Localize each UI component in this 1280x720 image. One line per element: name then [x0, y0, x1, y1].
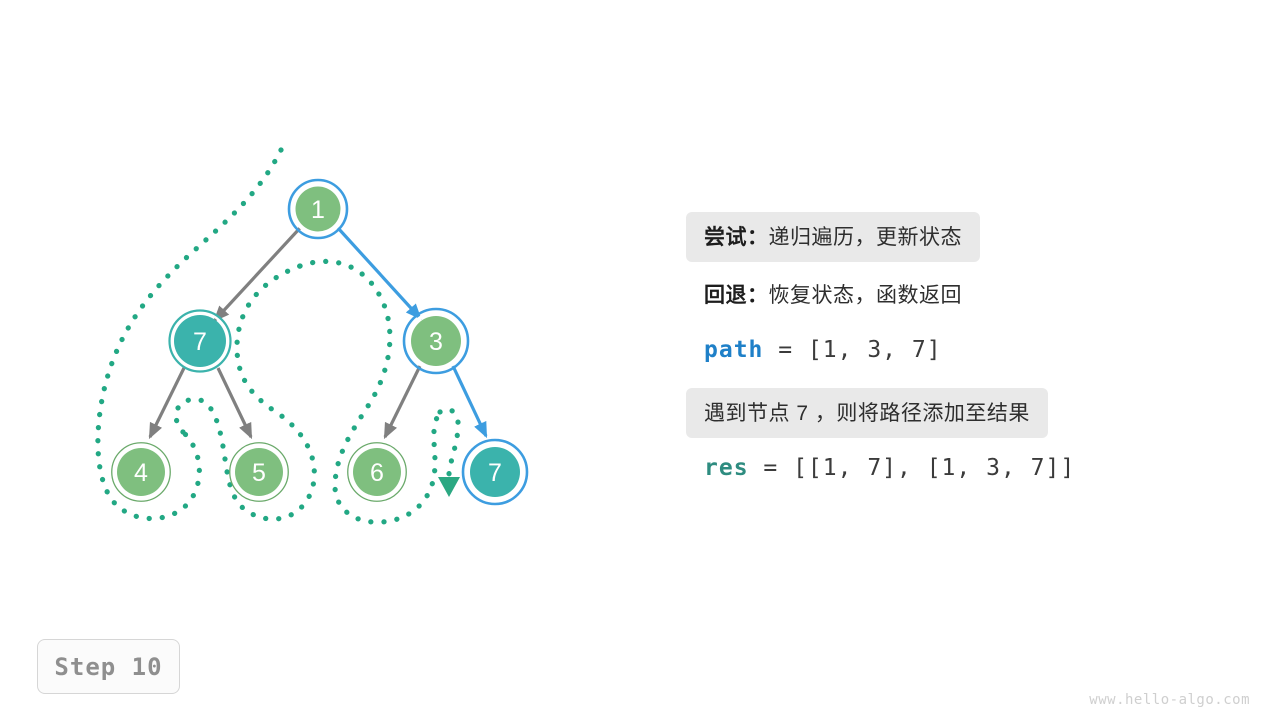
res-statement: res = [[1, 7], [1, 3, 7]]: [686, 446, 1093, 492]
info-row-found: 遇到节点 7 ，则将路径添加至结果: [686, 388, 1246, 438]
tree-node-6[interactable]: 6: [348, 443, 406, 501]
info-row-res: res = [[1, 7], [1, 3, 7]]: [686, 446, 1246, 492]
path-variable-name: path: [704, 337, 763, 363]
tree-node-4[interactable]: 4: [112, 443, 170, 501]
found-description: 遇到节点 7 ，则将路径添加至结果: [704, 402, 1030, 425]
node-7-right-label: 7: [488, 459, 502, 487]
backtrack-box: 回退：恢复状态，函数返回: [686, 270, 980, 320]
res-variable-name: res: [704, 455, 749, 481]
path-value: = [1, 3, 7]: [763, 337, 941, 363]
edge-3-6: [385, 366, 420, 437]
edge-7L-4: [150, 368, 184, 437]
node-7-left-label: 7: [193, 328, 207, 356]
try-box: 尝试：递归遍历，更新状态: [686, 212, 980, 262]
tree-node-7-left[interactable]: 7: [170, 311, 231, 372]
edge-1-3: [338, 228, 420, 318]
try-label: 尝试：: [704, 226, 769, 249]
node-6-label: 6: [370, 459, 384, 487]
tree-node-3[interactable]: 3: [404, 309, 468, 373]
node-3-label: 3: [429, 328, 443, 356]
binary-tree-diagram: 1 7 3 4 5 6 7: [0, 0, 640, 720]
node-4-label: 4: [134, 459, 148, 487]
backtrack-label: 回退：: [704, 284, 769, 307]
node-5-label: 5: [252, 459, 266, 487]
edge-1-7L: [215, 228, 300, 320]
info-row-backtrack: 回退：恢复状态，函数返回: [686, 270, 1246, 320]
node-1-label: 1: [311, 196, 325, 224]
watermark: www.hello-algo.com: [1089, 692, 1250, 708]
step-badge: Step 10: [37, 639, 180, 694]
found-box: 遇到节点 7 ，则将路径添加至结果: [686, 388, 1048, 438]
edge-3-7R: [453, 366, 486, 436]
try-description: 递归遍历，更新状态: [769, 226, 963, 249]
trail-segment-to-current: [440, 409, 458, 474]
tree-node-5[interactable]: 5: [230, 443, 288, 501]
step-badge-label: Step 10: [54, 653, 162, 681]
explanation-panel: 尝试：递归遍历，更新状态 回退：恢复状态，函数返回 path = [1, 3, …: [686, 212, 1246, 500]
info-row-path: path = [1, 3, 7]: [686, 328, 1246, 374]
tree-node-1[interactable]: 1: [289, 180, 347, 238]
path-statement: path = [1, 3, 7]: [686, 328, 960, 374]
trail-cursor-triangle-icon: [438, 477, 460, 497]
backtrack-description: 恢复状态，函数返回: [769, 284, 963, 307]
res-value: = [[1, 7], [1, 3, 7]]: [749, 455, 1076, 481]
info-row-try: 尝试：递归遍历，更新状态: [686, 212, 1246, 262]
tree-node-7-right[interactable]: 7: [463, 440, 527, 504]
